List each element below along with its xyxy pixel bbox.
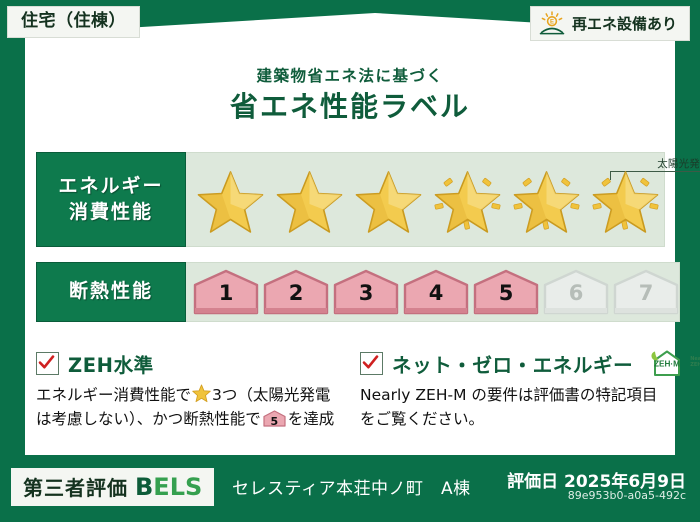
insulation-grade-value: 2: [263, 281, 329, 305]
label-subtitle: 建築物省エネ法に基づく: [0, 64, 700, 86]
energy-performance-row: エネルギー 消費性能 太陽光発電(自家消費)分: [36, 152, 664, 247]
zeh-m-house-icon: ZEH·M: [646, 349, 688, 377]
net-zero-header: ネット・ゼロ・エネルギー ZEH·M Nearly ZEH-M: [360, 350, 672, 376]
star-rating: [186, 164, 664, 236]
bels-energy-label: 住宅（住棟） E 再エネ設備あり 建築物省エネ法に基づく 省エネ性能ラベル: [0, 0, 700, 522]
insulation-grade-value: 1: [193, 281, 259, 305]
insulation-grade-value: 5: [473, 281, 539, 305]
bels-logo: 第三者評価 BELS: [11, 468, 214, 506]
building-type-tag: 住宅（住棟）: [7, 6, 140, 38]
insulation-grade-6: 6: [543, 269, 609, 315]
renewable-badge-label: 再エネ設備あり: [572, 13, 677, 34]
bels-logo-els: ELS: [153, 473, 202, 501]
zeh-standard-title: ZEH水準: [68, 349, 154, 378]
bels-logo-b: B: [135, 473, 153, 501]
net-zero-title: ネット・ゼロ・エネルギー: [392, 349, 633, 378]
inline-star-icon: [192, 384, 211, 403]
zeh-text-a: エネルギー消費性能で: [36, 386, 191, 404]
renewable-equipment-badge: E 再エネ設備あり: [530, 6, 690, 41]
insulation-performance-value: 1 2 3 4 5 6 7: [186, 262, 680, 322]
zeh-star-count: 3つ（太陽光発電: [212, 386, 330, 404]
zeh-text-c: を達成: [288, 410, 335, 428]
check-icon: [38, 354, 55, 371]
inline-grade-badge: 5: [263, 410, 286, 427]
insulation-grade-2: 2: [263, 269, 329, 315]
insulation-grade-value: 7: [613, 281, 679, 305]
star-4: [429, 164, 506, 236]
svg-text:ZEH·M: ZEH·M: [654, 360, 680, 369]
energy-key-line1: エネルギー: [58, 174, 163, 199]
insulation-grade-scale: 1 2 3 4 5 6 7: [186, 269, 679, 315]
star-1: [192, 164, 269, 236]
solar-sun-icon: E: [539, 11, 565, 35]
insulation-grade-7: 7: [613, 269, 679, 315]
building-name: セレスティア本荘中ノ町 A棟: [232, 474, 471, 499]
zeh-standard-description: エネルギー消費性能で 3つ（太陽光発電 は考慮しない）、かつ断熱性能で 5 を達…: [36, 383, 346, 431]
star-2: [271, 164, 348, 236]
zeh-standard-block: ZEH水準 エネルギー消費性能で 3つ（太陽光発電 は考慮しない）、かつ断熱性能…: [36, 350, 346, 431]
zeh-standard-checkbox[interactable]: [36, 352, 59, 375]
insulation-grade-4: 4: [403, 269, 469, 315]
zeh-m-logo: ZEH·M Nearly ZEH-M: [646, 349, 700, 377]
star-5: [508, 164, 585, 236]
energy-performance-key: エネルギー 消費性能: [36, 152, 186, 247]
zeh-standard-header: ZEH水準: [36, 350, 346, 376]
inline-grade-value: 5: [263, 413, 286, 430]
star-3: [350, 164, 427, 236]
insulation-grade-5: 5: [473, 269, 539, 315]
insulation-grade-1: 1: [193, 269, 259, 315]
footer-bar: 第三者評価 BELS セレスティア本荘中ノ町 A棟 評価日 2025年6月9日 …: [0, 455, 700, 522]
zeh-m-sub-line2: ZEH-M: [690, 362, 700, 368]
star-6: [587, 164, 664, 236]
insulation-performance-key: 断熱性能: [36, 262, 186, 322]
energy-key-line2: 消費性能: [69, 200, 153, 225]
insulation-grade-3: 3: [333, 269, 399, 315]
bels-third-party-label: 第三者評価: [23, 472, 128, 501]
zeh-text-b: は考慮しない）、かつ断熱性能で: [36, 410, 261, 428]
page-title: 省エネ性能ラベル: [0, 85, 700, 125]
insulation-grade-value: 4: [403, 281, 469, 305]
svg-text:E: E: [550, 20, 554, 26]
check-icon: [362, 354, 379, 371]
insulation-performance-row: 断熱性能 1 2 3 4 5 6 7: [36, 262, 664, 322]
net-zero-checkbox[interactable]: [360, 352, 383, 375]
insulation-grade-value: 3: [333, 281, 399, 305]
energy-performance-value: 太陽光発電(自家消費)分: [186, 152, 665, 247]
net-zero-description: Nearly ZEH-M の要件は評価書の特記項目をご覧ください。: [360, 383, 672, 431]
net-zero-energy-block: ネット・ゼロ・エネルギー ZEH·M Nearly ZEH-M Nearly Z…: [360, 350, 672, 431]
evaluation-id: 89e953b0-a0a5-492c: [568, 489, 686, 502]
insulation-grade-value: 6: [543, 281, 609, 305]
zeh-m-logo-sub: Nearly ZEH-M: [690, 357, 700, 369]
